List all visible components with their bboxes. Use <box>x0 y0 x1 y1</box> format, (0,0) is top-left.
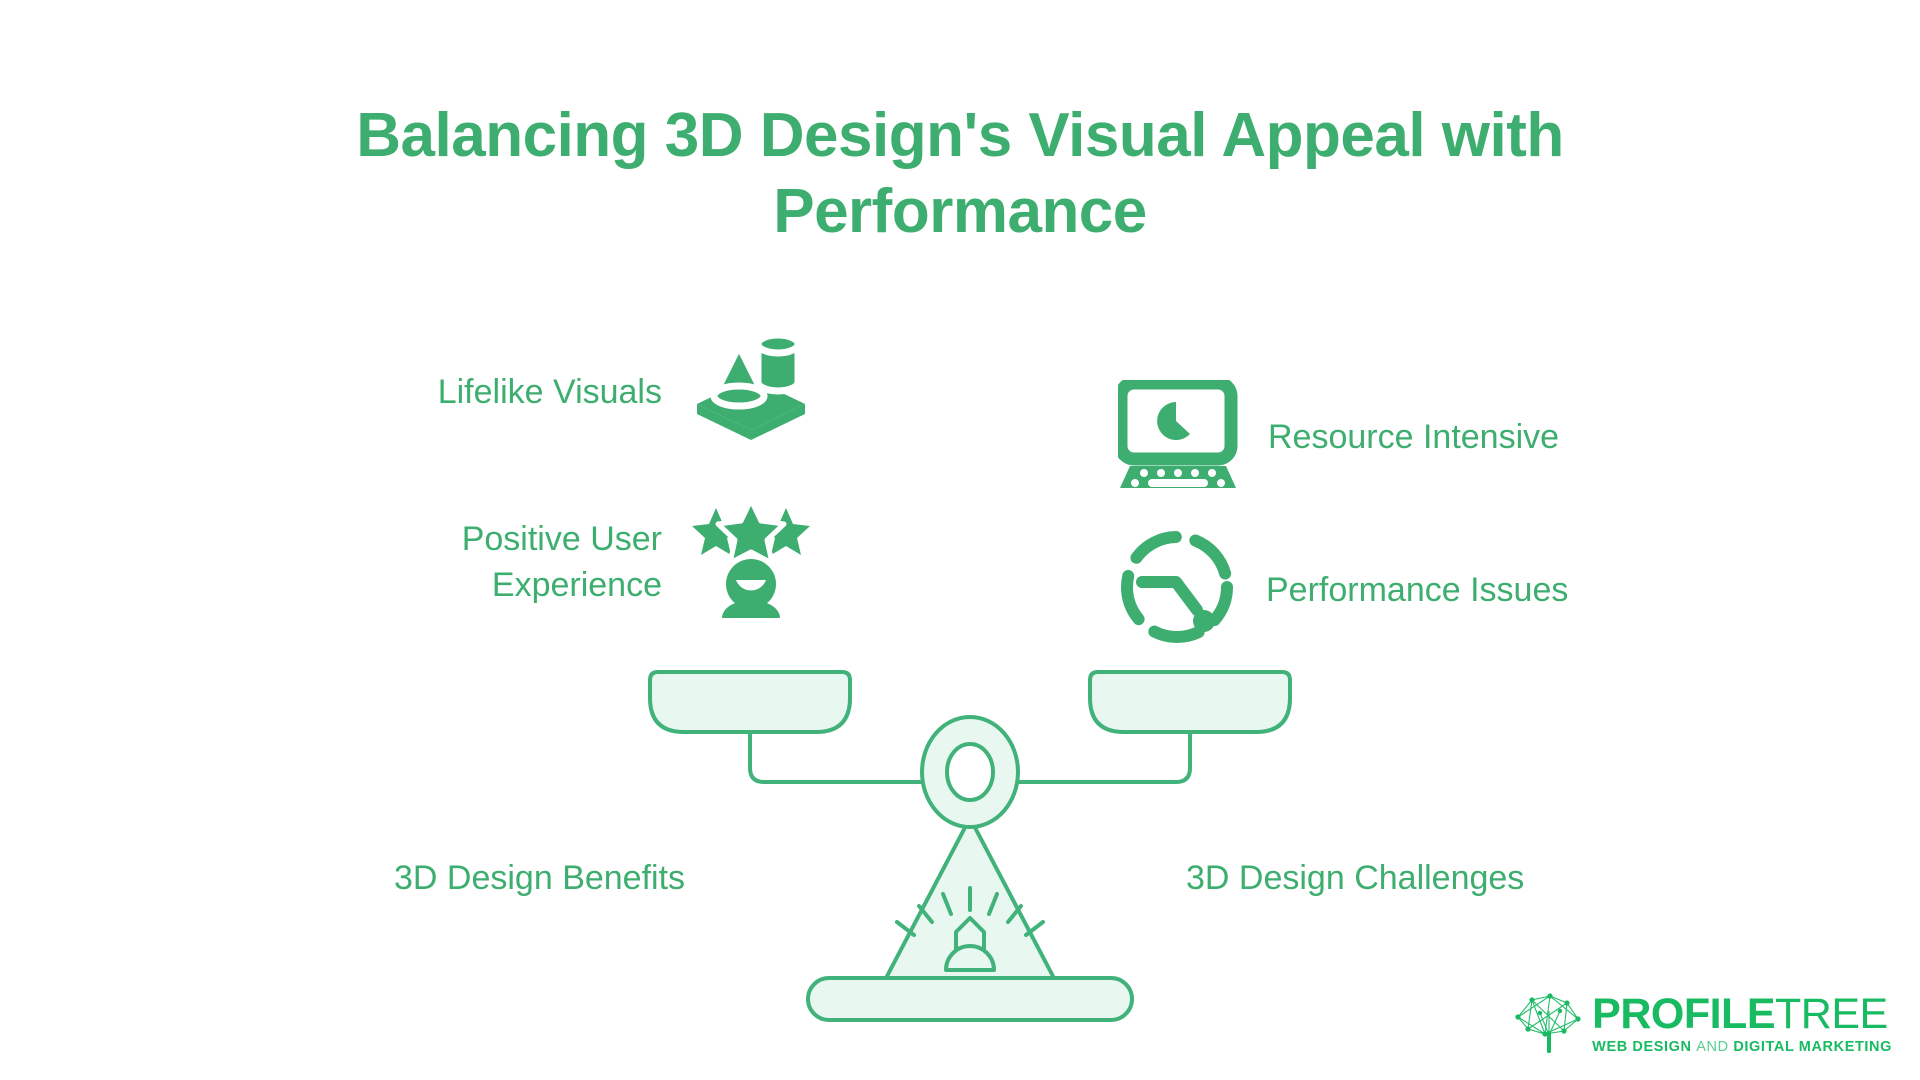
dashed-gauge-clock-icon <box>1118 528 1236 651</box>
3d-model-layers-icon <box>692 334 810 449</box>
challenge-label-performance-issues: Performance Issues <box>1266 567 1568 613</box>
profiletree-logo: PROFILETREE WEB DESIGN AND DIGITAL MARKE… <box>1512 991 1892 1058</box>
slide-canvas: Balancing 3D Design's Visual Appeal with… <box>0 0 1920 1080</box>
benefit-item-lifelike-visuals: Lifelike Visuals <box>400 334 810 449</box>
logo-tagline: WEB DESIGN AND DIGITAL MARKETING <box>1592 1038 1892 1056</box>
balance-scale-icon <box>640 660 1300 1030</box>
network-tree-icon <box>1512 991 1586 1058</box>
logo-tagline-and: AND <box>1696 1039 1728 1055</box>
computer-monitor-keyboard-icon <box>1118 380 1238 493</box>
page-title: Balancing 3D Design's Visual Appeal with… <box>330 98 1590 250</box>
category-label-benefits: 3D Design Benefits <box>394 858 685 898</box>
challenge-label-resource-intensive: Resource Intensive <box>1268 414 1559 460</box>
logo-tagline-part2: DIGITAL MARKETING <box>1733 1039 1892 1055</box>
challenge-item-resource-intensive: Resource Intensive <box>1118 380 1559 493</box>
logo-word-profile: PROFILE <box>1592 990 1775 1038</box>
challenge-item-performance-issues: Performance Issues <box>1118 528 1568 651</box>
category-label-challenges: 3D Design Challenges <box>1186 858 1524 898</box>
logo-tagline-part1: WEB DESIGN <box>1592 1039 1691 1055</box>
benefit-label-positive-user-experience: Positive User Experience <box>400 516 662 608</box>
benefit-label-lifelike-visuals: Lifelike Visuals <box>400 369 662 415</box>
logo-text-block: PROFILETREE WEB DESIGN AND DIGITAL MARKE… <box>1592 993 1892 1056</box>
logo-word-tree: TREE <box>1775 990 1888 1038</box>
benefit-item-positive-user-experience: Positive User Experience <box>400 500 810 623</box>
logo-wordmark: PROFILETREE <box>1592 993 1892 1036</box>
stars-rating-user-icon <box>692 500 810 623</box>
